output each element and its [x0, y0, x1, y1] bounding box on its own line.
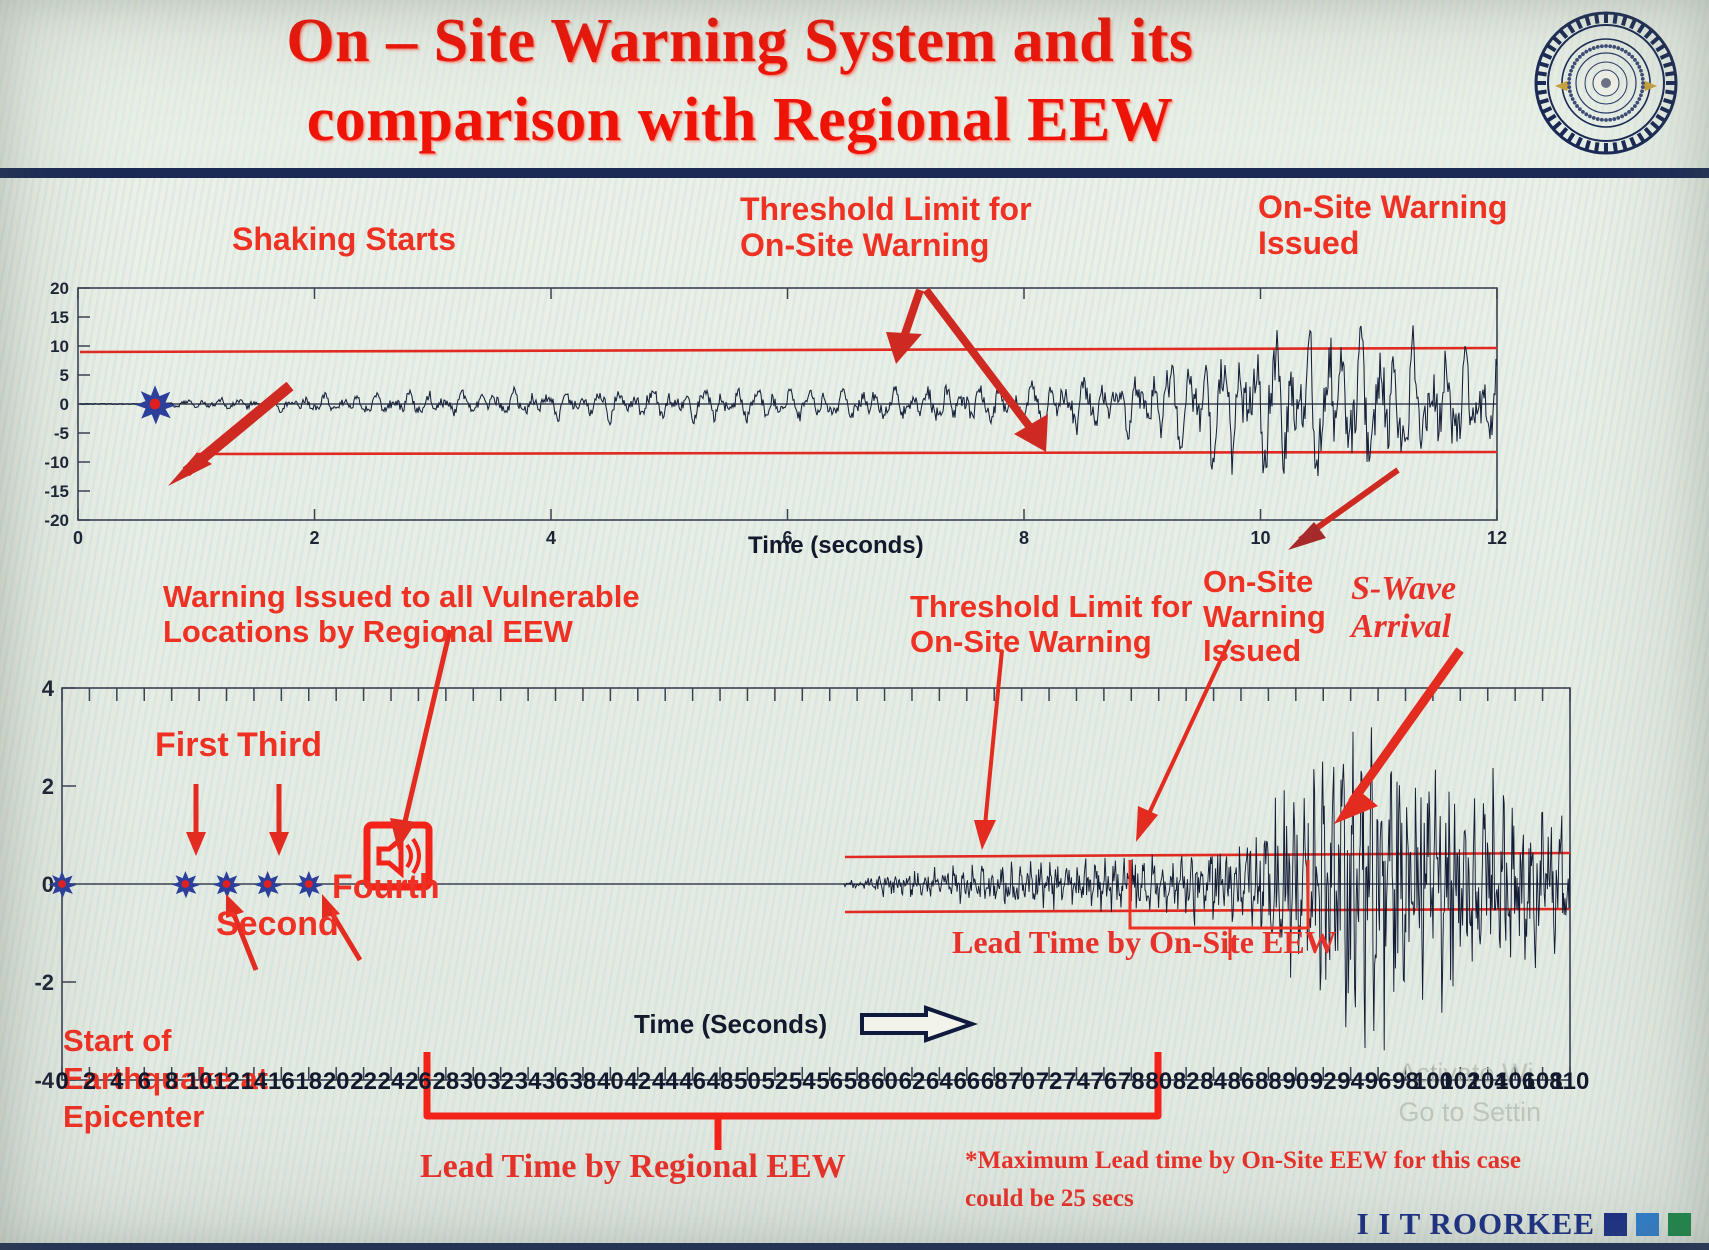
annotation-second: Second	[216, 905, 339, 943]
xtick-label: 66	[953, 1068, 980, 1096]
xtick-label: 10	[186, 1068, 213, 1096]
svg-text:2: 2	[309, 528, 319, 548]
annotation-shaking-starts: Shaking Starts	[232, 222, 456, 258]
xtick-label: 22	[350, 1068, 377, 1096]
xtick-label: 34	[515, 1068, 542, 1096]
top-lower-threshold-line	[196, 452, 1497, 454]
xtick-label: 64	[926, 1068, 953, 1096]
xtick-label: 14	[241, 1068, 268, 1096]
xtick-label: 46	[679, 1068, 706, 1096]
brand-square-blue	[1636, 1213, 1659, 1236]
xtick-label: 16	[268, 1068, 295, 1096]
svg-text:-2: -2	[34, 970, 54, 995]
annotation-fourth: Fourth	[332, 868, 440, 906]
page-title: On – Site Warning System and its compari…	[150, 2, 1330, 161]
xtick-label: 96	[1365, 1068, 1392, 1096]
svg-text:2: 2	[42, 774, 54, 799]
annotation-top-warning-issued: On-Site Warning Issued	[1258, 190, 1507, 262]
svg-text:-10: -10	[44, 453, 69, 472]
event-star-second-station-trigger	[213, 871, 241, 898]
svg-text:-20: -20	[44, 511, 69, 530]
xtick-label: 18	[295, 1068, 322, 1096]
xtick-label: 78	[1118, 1068, 1145, 1096]
xtick-label: 58	[844, 1068, 871, 1096]
top-accelerogram-panel: -20-15-10-505101520 024681012	[0, 180, 1709, 560]
xtick-label: 12	[213, 1068, 240, 1096]
svg-text:4: 4	[42, 676, 55, 701]
brand-square-navy	[1604, 1213, 1627, 1236]
xtick-label: 70	[1008, 1068, 1035, 1096]
svg-text:10: 10	[1250, 528, 1270, 548]
threshold-limit-arrow-down-icon	[926, 290, 1048, 452]
annotation-first: First	[155, 726, 229, 764]
annotation-top-threshold-limit: Threshold Limit for On-Site Warning	[740, 192, 1032, 264]
xtick-label: 88	[1255, 1068, 1282, 1096]
xtick-label: 24	[378, 1068, 405, 1096]
xtick-label: 56	[816, 1068, 843, 1096]
xtick-label: 26	[405, 1068, 432, 1096]
xtick-label: 74	[1063, 1068, 1090, 1096]
iit-roorkee-seal-icon	[1531, 8, 1681, 158]
header-divider	[0, 168, 1709, 178]
xtick-label: 52	[762, 1068, 789, 1096]
xtick-label: 38	[570, 1068, 597, 1096]
brand-square-green	[1668, 1213, 1691, 1236]
onsite-warning-arrow-icon	[1288, 470, 1398, 550]
svg-text:10: 10	[50, 337, 69, 356]
annotation-s-wave-arrival: S-Wave Arrival	[1351, 570, 1456, 646]
bottom-chart-xlabel: Time (Seconds)	[634, 1010, 827, 1039]
xtick-label: 48	[707, 1068, 734, 1096]
xtick-label: 0	[55, 1068, 68, 1096]
annotation-bottom-threshold-limit: Threshold Limit for On-Site Warning	[910, 590, 1192, 659]
xtick-label: 90	[1282, 1068, 1309, 1096]
xtick-label: 72	[1036, 1068, 1063, 1096]
first-event-arrow-icon	[186, 784, 206, 856]
xtick-label: 40	[597, 1068, 624, 1096]
xtick-label: 30	[460, 1068, 487, 1096]
xtick-label: 44	[652, 1068, 679, 1096]
xtick-label: 80	[1145, 1068, 1172, 1096]
brand-label: I I T ROORKEE	[1357, 1206, 1595, 1242]
xtick-label: 28	[432, 1068, 459, 1096]
svg-text:-5: -5	[54, 424, 69, 443]
svg-text:0: 0	[73, 528, 83, 548]
page-title-line-1: On – Site Warning System and its	[150, 2, 1330, 81]
svg-text:-15: -15	[44, 482, 69, 501]
slide-canvas: On – Site Warning System and its compari…	[0, 0, 1709, 1250]
xtick-label: 68	[981, 1068, 1008, 1096]
xtick-label: 6	[138, 1068, 151, 1096]
threshold-limit-arrow-top-icon	[886, 290, 922, 364]
xtick-label: 84	[1200, 1068, 1227, 1096]
top-shaking-start-star-icon	[136, 385, 176, 424]
xtick-label: 8	[165, 1068, 178, 1096]
svg-text:8: 8	[1019, 528, 1029, 548]
xtick-label: 32	[487, 1068, 514, 1096]
annotation-lead-time-regional: Lead Time by Regional EEW	[420, 1148, 846, 1186]
footer-divider	[0, 1243, 1709, 1250]
xtick-label: 94	[1337, 1068, 1364, 1096]
xtick-label: 92	[1310, 1068, 1337, 1096]
xtick-label: 110	[1551, 1068, 1590, 1096]
xtick-label: 36	[542, 1068, 569, 1096]
xtick-label: 4	[110, 1068, 123, 1096]
annotation-regional-warning-issued: Warning Issued to all Vulnerable Locatio…	[163, 580, 640, 649]
annotation-lead-time-onsite: Lead Time by On-Site EEW	[952, 925, 1337, 961]
xtick-label: 42	[624, 1068, 651, 1096]
top-chart-xlabel: Time (seconds)	[748, 533, 924, 560]
svg-text:20: 20	[50, 279, 69, 298]
top-upper-threshold-line	[80, 348, 1497, 352]
time-direction-arrow-icon	[860, 1007, 980, 1041]
xtick-label: 86	[1228, 1068, 1255, 1096]
xtick-label: 60	[871, 1068, 898, 1096]
xtick-label: 2	[83, 1068, 96, 1096]
xtick-label: 50	[734, 1068, 761, 1096]
xtick-label: 82	[1173, 1068, 1200, 1096]
third-event-arrow-icon	[269, 784, 289, 856]
slide-header: On – Site Warning System and its compari…	[0, 0, 1709, 172]
event-star-first-station-trigger	[172, 871, 200, 898]
bottom-xtick-labels: 0246810121416182022242628303234363840424…	[0, 1068, 1709, 1102]
bottom-threshold-arrow-icon	[974, 650, 1002, 850]
xtick-label: 20	[323, 1068, 350, 1096]
annotation-third: Third	[237, 726, 322, 764]
svg-text:4: 4	[546, 528, 556, 548]
xtick-label: 62	[899, 1068, 926, 1096]
regional-warning-arrow-icon	[390, 630, 450, 850]
bottom-warning-issued-arrow-icon	[1136, 640, 1230, 842]
svg-text:15: 15	[50, 308, 69, 327]
svg-text:5: 5	[60, 366, 69, 385]
page-title-line-2: comparison with Regional EEW	[150, 81, 1330, 160]
bottom-waveform	[843, 727, 1569, 1050]
xtick-label: 76	[1091, 1068, 1118, 1096]
brand-footer: I I T ROORKEE	[1357, 1206, 1691, 1242]
event-star-fourth-station-trigger	[295, 871, 323, 898]
bottom-upper-threshold-line	[845, 853, 1570, 857]
svg-text:12: 12	[1487, 528, 1507, 548]
annotation-bottom-warning-issued: On-Site Warning Issued	[1203, 565, 1326, 669]
svg-text:0: 0	[60, 395, 69, 414]
event-star-third-station-trigger	[254, 871, 282, 898]
xtick-label: 54	[789, 1068, 816, 1096]
